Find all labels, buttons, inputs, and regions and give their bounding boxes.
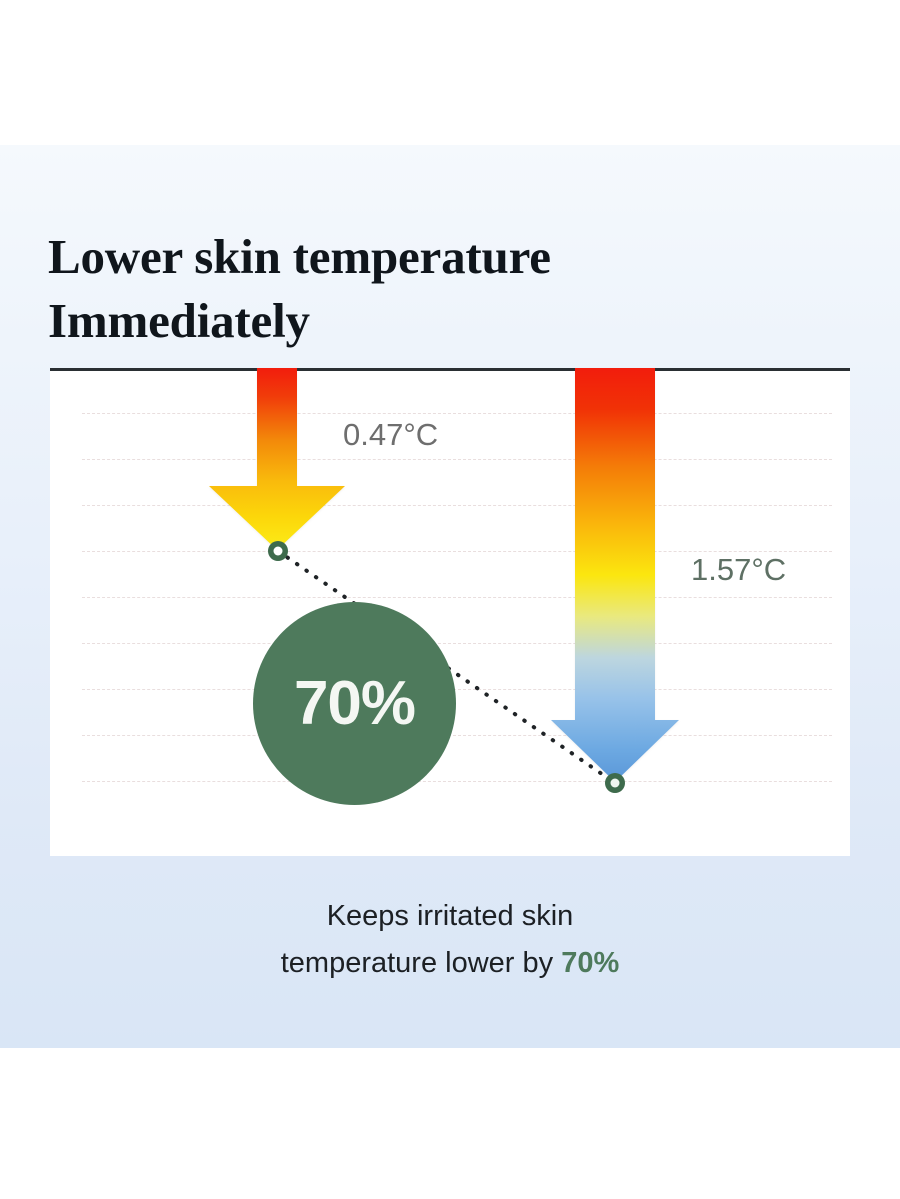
- percentage-badge-label: 70%: [294, 673, 415, 735]
- page-title: Lower skin temperature Immediately: [48, 225, 788, 352]
- caption-line-2: temperature lower by 70%: [0, 940, 900, 987]
- percentage-badge: 70%: [253, 602, 456, 805]
- infographic-page: Lower skin temperature Immediately: [0, 0, 900, 1199]
- dotted-connector-line: [50, 371, 850, 859]
- chart-card: [50, 368, 850, 856]
- caption: Keeps irritated skin temperature lower b…: [0, 893, 900, 987]
- temperature-label-b: 1.57°C: [691, 552, 786, 588]
- data-point-marker: [266, 539, 290, 563]
- caption-highlight: 70%: [561, 947, 619, 979]
- caption-line-2-prefix: temperature lower by: [281, 947, 561, 979]
- temperature-label-a: 0.47°C: [343, 417, 438, 453]
- page-title-line-1: Lower skin temperature: [48, 229, 551, 284]
- caption-line-1: Keeps irritated skin: [0, 893, 900, 940]
- data-point-marker: [603, 771, 627, 795]
- page-title-line-2: Immediately: [48, 289, 788, 353]
